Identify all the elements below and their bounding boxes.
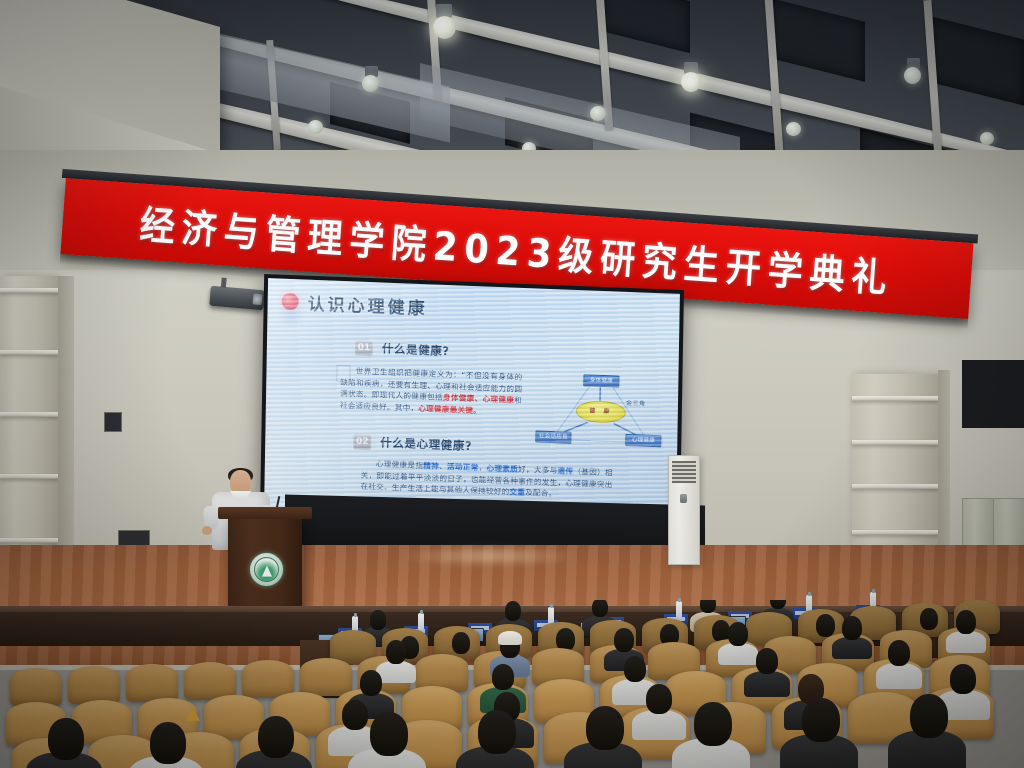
body-highlight-3: 心理素质: [486, 464, 518, 474]
projection-screen-frame: 认识心理健康 01 什么是健康? 世界卫生组织把健康定义为：“不但没有身体的缺陷…: [260, 274, 684, 528]
wall-speaker-left: [104, 412, 122, 432]
diagram-node-top: 身体健康: [583, 374, 619, 387]
aisle-light-icon: [186, 708, 200, 721]
body-highlight-4: 遗传: [557, 466, 573, 476]
ac-display-icon: [680, 494, 687, 503]
slide-section-01: 01 什么是健康?: [355, 339, 450, 359]
section-01-body: 世界卫生组织把健康定义为：“不但没有身体的缺陷和疾病，还要有生理、心理和社会适应…: [340, 365, 523, 418]
seat: [68, 666, 120, 704]
seat: [10, 668, 62, 706]
ceiling-downlight: [308, 120, 323, 134]
ceiling-downlight: [433, 16, 456, 39]
body-highlight-5: 交重: [509, 488, 525, 498]
section-number-badge: 01: [355, 340, 373, 356]
air-conditioner-unit: [668, 455, 700, 565]
cap-icon: [498, 631, 522, 645]
body-highlight-red-1: 身体健康、心理健康: [443, 393, 514, 405]
body-sep-2: ，: [479, 463, 487, 472]
diagram-label: 金三角: [626, 398, 646, 408]
seat: [126, 664, 178, 702]
projection-screen: 认识心理健康 01 什么是健康? 世界卫生组织把健康定义为：“不但没有身体的缺陷…: [264, 278, 680, 524]
section-heading: 什么是心理健康?: [380, 435, 472, 455]
seat: [300, 658, 352, 696]
health-triangle-diagram: 身体健康 健 康 社会适应良好 心理健康 金三角: [531, 368, 668, 453]
ceiling-downlight: [362, 75, 379, 92]
ceiling-downlight: [590, 106, 606, 121]
diagram-node-right: 心理健康: [625, 434, 661, 447]
section-02-body: 心理健康是指精神、活动正常，心理素质好，大多与遗传（基因）相关，即能过着平平淡淡…: [360, 458, 612, 502]
ceiling-downlight: [980, 132, 994, 145]
audience-area: [0, 600, 1024, 768]
ceiling-downlight: [786, 122, 801, 136]
seat: [242, 660, 294, 698]
body-text-suffix: 及配合。: [525, 488, 557, 498]
ceiling-downlight: [904, 67, 921, 84]
section-heading: 什么是健康?: [382, 341, 450, 360]
ceiling-downlight: [681, 72, 701, 92]
body-highlight-2: 活动正常: [447, 462, 479, 472]
slide-title: 认识心理健康: [307, 290, 427, 320]
body-text-prefix: 心理健康是指: [376, 459, 424, 470]
upper-dark-panel-right: [962, 360, 1024, 428]
university-crest-icon: [249, 552, 284, 587]
body-text-middle: 好，大多与: [518, 465, 558, 476]
podium-top-surface: [218, 507, 312, 519]
speaker-left-hand: [202, 526, 212, 535]
ac-grille-icon: [672, 461, 696, 483]
body-highlight-1: 精神: [423, 461, 439, 471]
slide-bullet-icon: [282, 293, 299, 311]
diagram-node-left: 社会适应良好: [535, 430, 571, 443]
auditorium-photo: 经济与管理学院2023级研究生开学典礼 认识心理健康 01 什么是健康? 世界卫…: [0, 0, 1024, 768]
slide-section-02: 02 什么是心理健康?: [353, 433, 472, 454]
crest-mark: [262, 565, 272, 576]
body-highlight-red-2: 心理健康最关键。: [418, 404, 481, 415]
section-number-badge: 02: [353, 434, 371, 450]
stage-light-reflection: [400, 545, 580, 567]
